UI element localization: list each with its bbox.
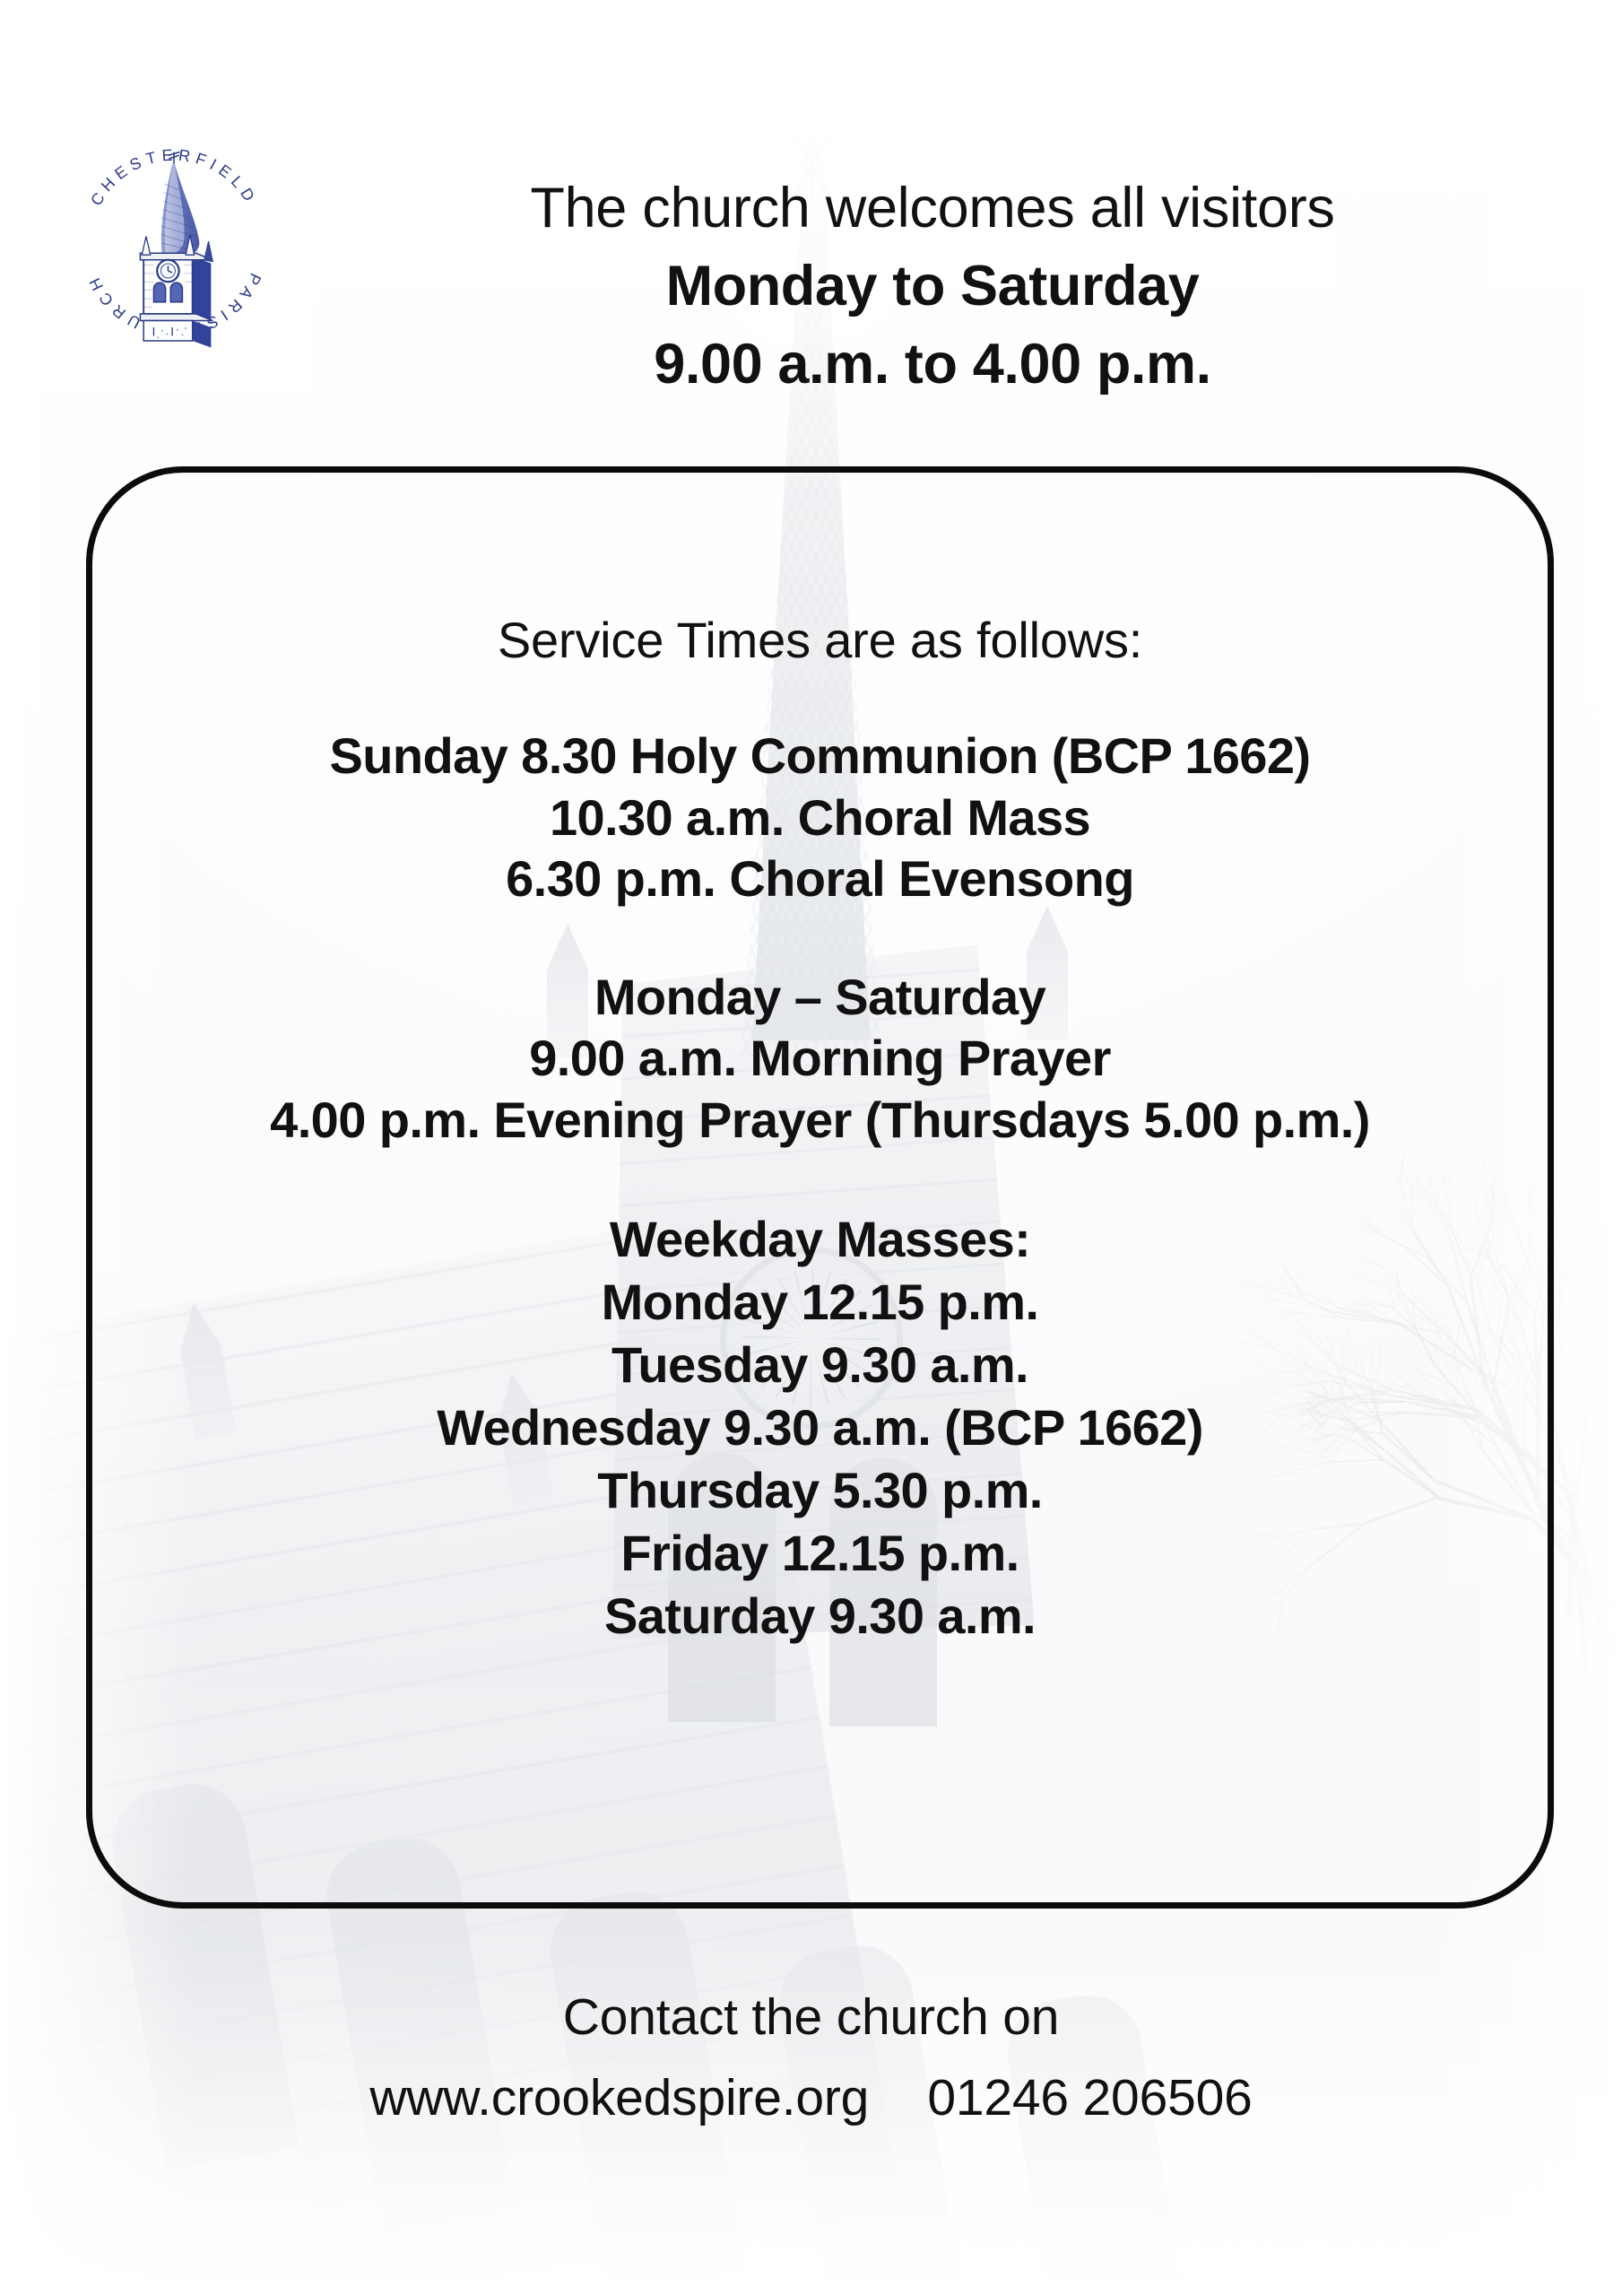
- website-link[interactable]: www.crookedspire.org: [369, 2069, 869, 2126]
- service-line: 4.00 p.m. Evening Prayer (Thursdays 5.00…: [113, 1090, 1527, 1151]
- service-line: 9.00 a.m. Morning Prayer: [113, 1028, 1527, 1089]
- service-times-content: Service Times are as follows: Sunday 8.3…: [86, 466, 1554, 1909]
- service-times-poster: CHESTERFIELD PARISH CHURCH: [0, 0, 1622, 2296]
- service-line: 10.30 a.m. Choral Mass: [113, 787, 1527, 848]
- church-logo-icon: CHESTERFIELD PARISH CHURCH: [48, 117, 300, 370]
- service-line: 6.30 p.m. Choral Evensong: [113, 848, 1527, 909]
- welcome-line: The church welcomes all visitors: [296, 176, 1569, 241]
- contact-label: Contact the church on: [0, 1987, 1622, 2048]
- weekday-prayer-group: Monday – Saturday 9.00 a.m. Morning Pray…: [113, 967, 1527, 1151]
- opening-days-line: Monday to Saturday: [296, 252, 1569, 321]
- opening-hours-line: 9.00 a.m. to 4.00 p.m.: [296, 330, 1569, 399]
- sunday-services-group: Sunday 8.30 Holy Communion (BCP 1662) 10…: [113, 726, 1527, 909]
- service-line: Sunday 8.30 Holy Communion (BCP 1662): [113, 726, 1527, 787]
- contact-details: www.crookedspire.org 01246 206506: [0, 2067, 1622, 2128]
- weekday-masses-group: Weekday Masses: Monday 12.15 p.m. Tuesda…: [113, 1208, 1527, 1648]
- weekday-masses-heading: Weekday Masses:: [113, 1208, 1527, 1271]
- poster-footer: Contact the church on www.crookedspire.o…: [0, 1987, 1622, 2129]
- phone-number[interactable]: 01246 206506: [927, 2069, 1252, 2126]
- service-line: Tuesday 9.30 a.m.: [113, 1334, 1527, 1396]
- service-line: Thursday 5.30 p.m.: [113, 1459, 1527, 1522]
- service-line: Friday 12.15 p.m.: [113, 1522, 1527, 1585]
- service-line: Saturday 9.30 a.m.: [113, 1585, 1527, 1648]
- service-line: Monday – Saturday: [113, 967, 1527, 1028]
- service-line: Monday 12.15 p.m.: [113, 1271, 1527, 1334]
- logo-panel: CHESTERFIELD PARISH CHURCH: [34, 93, 314, 393]
- service-times-heading: Service Times are as follows:: [113, 610, 1527, 670]
- poster-header: The church welcomes all visitors Monday …: [296, 176, 1569, 399]
- service-line: Wednesday 9.30 a.m. (BCP 1662): [113, 1396, 1527, 1459]
